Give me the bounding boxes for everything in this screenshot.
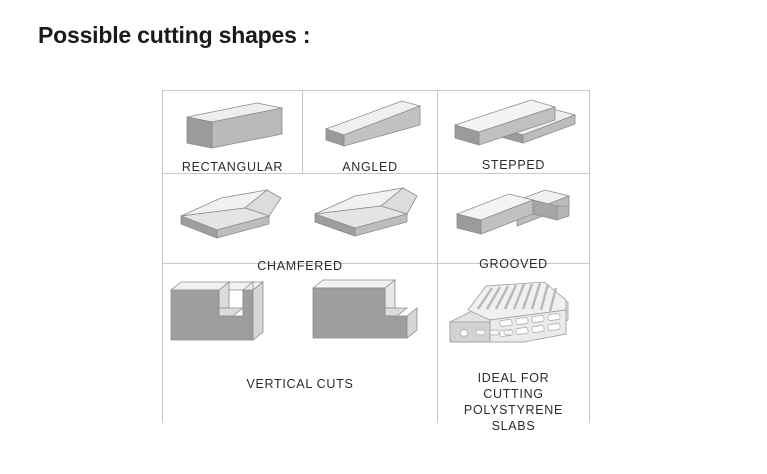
- shape-label-polystyrene: IDEAL FOR CUTTING POLYSTYRENE SLABS: [464, 370, 563, 434]
- stepped-block-icon: [438, 97, 589, 153]
- angled-wedge-block-icon: [303, 99, 437, 153]
- shape-cell-polystyrene[interactable]: IDEAL FOR CUTTING POLYSTYRENE SLABS: [438, 264, 590, 423]
- shape-cell-chamfered[interactable]: CHAMFERED: [162, 174, 438, 264]
- shape-label-angled: ANGLED: [342, 159, 398, 175]
- shape-label-stepped: STEPPED: [482, 157, 545, 173]
- shape-label-rectangular: RECTANGULAR: [182, 159, 283, 175]
- shape-label-vertical-cuts: VERTICAL CUTS: [246, 376, 353, 392]
- notched-slab-icon: [163, 278, 437, 354]
- shape-cell-stepped[interactable]: STEPPED: [438, 90, 590, 174]
- shape-cell-angled[interactable]: ANGLED: [303, 90, 438, 174]
- chamfered-block-icon: [163, 186, 437, 244]
- shape-cell-grooved[interactable]: GROOVED: [438, 174, 590, 264]
- rectangular-block-icon: [163, 99, 302, 153]
- polystyrene-slab-icon: [438, 276, 589, 354]
- page-title: Possible cutting shapes :: [38, 22, 310, 49]
- shape-cell-vertical-cuts[interactable]: VERTICAL CUTS: [162, 264, 438, 423]
- grooved-channel-block-icon: [438, 184, 589, 242]
- cutting-shapes-grid: RECTANGULAR ANGLED STEPPE: [162, 90, 590, 423]
- shape-cell-rectangular[interactable]: RECTANGULAR: [162, 90, 303, 174]
